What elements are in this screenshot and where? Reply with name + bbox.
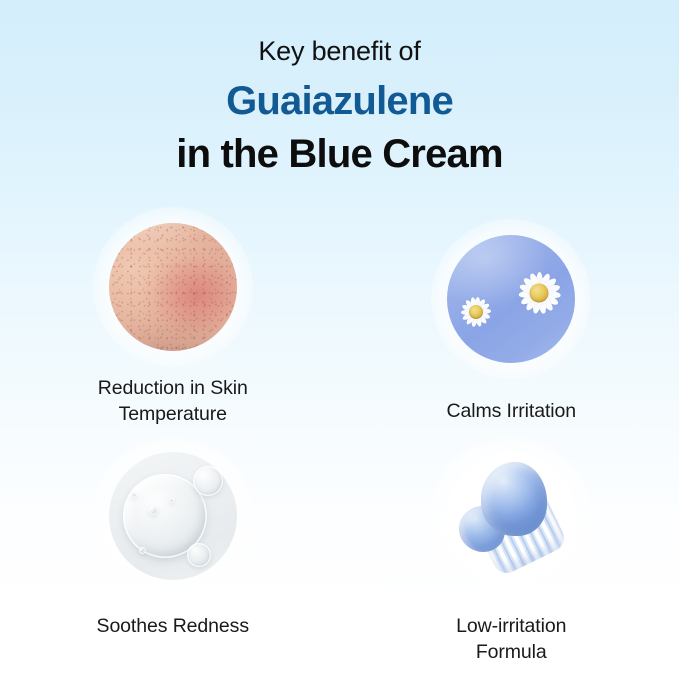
page-title: Key benefit of Guaiazulene in the Blue C… <box>0 38 679 174</box>
chamomile-flower-small <box>455 291 497 333</box>
benefit-grid: Reduction in Skin Temperature <box>0 214 679 665</box>
benefit-image-halo <box>88 214 258 361</box>
flower-center <box>530 284 549 303</box>
benefit-caption-line-1: Soothes Redness <box>97 615 249 637</box>
irritated-skin-closeup-image <box>109 223 237 351</box>
chamomile-flowers-image <box>447 235 575 363</box>
chamomile-flower-large <box>511 265 567 321</box>
benefit-image-halo <box>426 214 596 384</box>
benefit-caption: Calms Irritation <box>446 398 576 424</box>
benefit-image-halo <box>88 431 258 601</box>
benefit-caption: Reduction in Skin Temperature <box>98 375 248 427</box>
clear-gel-droplet-image <box>109 452 237 580</box>
cream-edge-fade <box>447 452 575 580</box>
gel-bubble <box>169 498 174 503</box>
gel-bubble <box>131 492 137 498</box>
headline-line-3: in the Blue Cream <box>0 134 679 174</box>
benefit-caption: Low-irritation Formula <box>456 613 566 665</box>
blue-cream-swatch-image <box>447 452 575 580</box>
headline-line-1: Key benefit of <box>0 38 679 65</box>
gel-bubble <box>193 466 223 496</box>
benefit-caption: Soothes Redness <box>97 613 249 639</box>
benefit-item-soothes-redness: Soothes Redness <box>0 427 343 665</box>
benefit-caption-line-2: Formula <box>476 641 547 663</box>
benefit-caption-line-1: Reduction in Skin <box>98 377 248 399</box>
benefit-item-calms-irritation: Calms Irritation <box>338 214 679 427</box>
flower-center <box>469 305 483 319</box>
gel-bubble <box>139 547 146 554</box>
benefit-caption-line-1: Low-irritation <box>456 615 566 637</box>
gel-bubble <box>149 506 158 515</box>
benefit-image-halo <box>426 431 596 601</box>
benefit-item-low-irritation: Low-irritation Formula <box>338 427 679 665</box>
skin-shading-overlay <box>109 223 237 351</box>
benefit-caption-line-2: Temperature <box>119 403 227 425</box>
headline-ingredient-name: Guaiazulene <box>0 81 679 121</box>
gel-bubble <box>187 543 211 567</box>
product-benefit-poster: Key benefit of Guaiazulene in the Blue C… <box>0 0 679 679</box>
benefit-item-skin-temperature: Reduction in Skin Temperature <box>0 214 343 427</box>
benefit-caption-line-1: Calms Irritation <box>446 400 576 422</box>
